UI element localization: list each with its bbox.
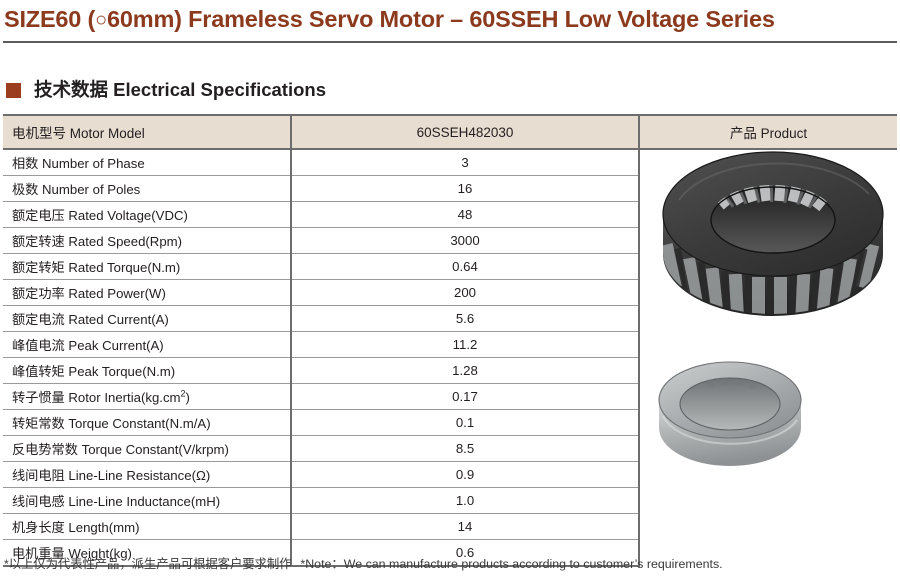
header-motor-model: 电机型号 Motor Model (3, 115, 291, 149)
table-head: 电机型号 Motor Model 60SSEH482030 产品 Product (3, 115, 897, 149)
row-value: 3000 (291, 228, 639, 254)
row-value: 16 (291, 176, 639, 202)
row-value: 5.6 (291, 306, 639, 332)
row-label: 机身长度 Length(mm) (3, 514, 291, 540)
row-label: 额定转速 Rated Speed(Rpm) (3, 228, 291, 254)
page-title-prefix: SIZE60 ( (4, 6, 95, 32)
row-label: 额定电流 Rated Current(A) (3, 306, 291, 332)
row-label-tail: ) (186, 390, 190, 405)
row-value: 0.9 (291, 462, 639, 488)
product-image-cell (639, 149, 897, 566)
table-header-row: 电机型号 Motor Model 60SSEH482030 产品 Product (3, 115, 897, 149)
diameter-symbol-icon: ○ (95, 5, 107, 35)
row-label: 峰值电流 Peak Current(A) (3, 332, 291, 358)
row-label: 线间电阻 Line-Line Resistance(Ω) (3, 462, 291, 488)
row-label-text: 转子惯量 Rotor Inertia(kg.cm (12, 390, 181, 405)
row-value: 14 (291, 514, 639, 540)
row-value: 1.28 (291, 358, 639, 384)
title-bar: SIZE60 (○60mm) Frameless Servo Motor – 6… (0, 0, 900, 44)
row-value: 11.2 (291, 332, 639, 358)
title-divider (3, 41, 897, 43)
footnote-en: *Note：We can manufacture products accord… (300, 557, 722, 571)
row-value: 48 (291, 202, 639, 228)
row-value: 3 (291, 149, 639, 176)
row-label: 额定功率 Rated Power(W) (3, 280, 291, 306)
row-value: 0.64 (291, 254, 639, 280)
row-value: 200 (291, 280, 639, 306)
row-label: 转子惯量 Rotor Inertia(kg.cm2) (3, 384, 291, 410)
row-label: 额定电压 Rated Voltage(VDC) (3, 202, 291, 228)
section-heading-label: 技术数据 Electrical Specifications (34, 79, 326, 101)
row-value: 1.0 (291, 488, 639, 514)
spec-sheet-page: SIZE60 (○60mm) Frameless Servo Motor – 6… (0, 0, 900, 588)
section-bullet-square-icon (6, 83, 21, 98)
footnote: *以上仅为代表性产品，派生产品可根据客户要求制作*Note：We can man… (4, 556, 896, 572)
electrical-specifications-table: 电机型号 Motor Model 60SSEH482030 产品 Product… (3, 114, 897, 567)
footnote-cn: *以上仅为代表性产品，派生产品可根据客户要求制作 (4, 557, 291, 571)
row-label: 转矩常数 Torque Constant(N.m/A) (3, 410, 291, 436)
row-label: 极数 Number of Poles (3, 176, 291, 202)
row-label: 反电势常数 Torque Constant(V/krpm) (3, 436, 291, 462)
header-model-number: 60SSEH482030 (291, 115, 639, 149)
header-product: 产品 Product (639, 115, 897, 149)
row-value: 0.17 (291, 384, 639, 410)
section-heading: 技术数据 Electrical Specifications (6, 76, 326, 104)
table-row: 相数 Number of Phase3 (3, 149, 897, 176)
row-value: 8.5 (291, 436, 639, 462)
page-title-suffix: 60mm) Frameless Servo Motor – 60SSEH Low… (107, 6, 775, 32)
row-label: 额定转矩 Rated Torque(N.m) (3, 254, 291, 280)
row-label: 相数 Number of Phase (3, 149, 291, 176)
table-body: 相数 Number of Phase3极数 Number of Poles16额… (3, 149, 897, 566)
page-title: SIZE60 (○60mm) Frameless Servo Motor – 6… (4, 4, 775, 36)
row-value: 0.1 (291, 410, 639, 436)
row-label: 峰值转矩 Peak Torque(N.m) (3, 358, 291, 384)
row-label: 线间电感 Line-Line Inductance(mH) (3, 488, 291, 514)
